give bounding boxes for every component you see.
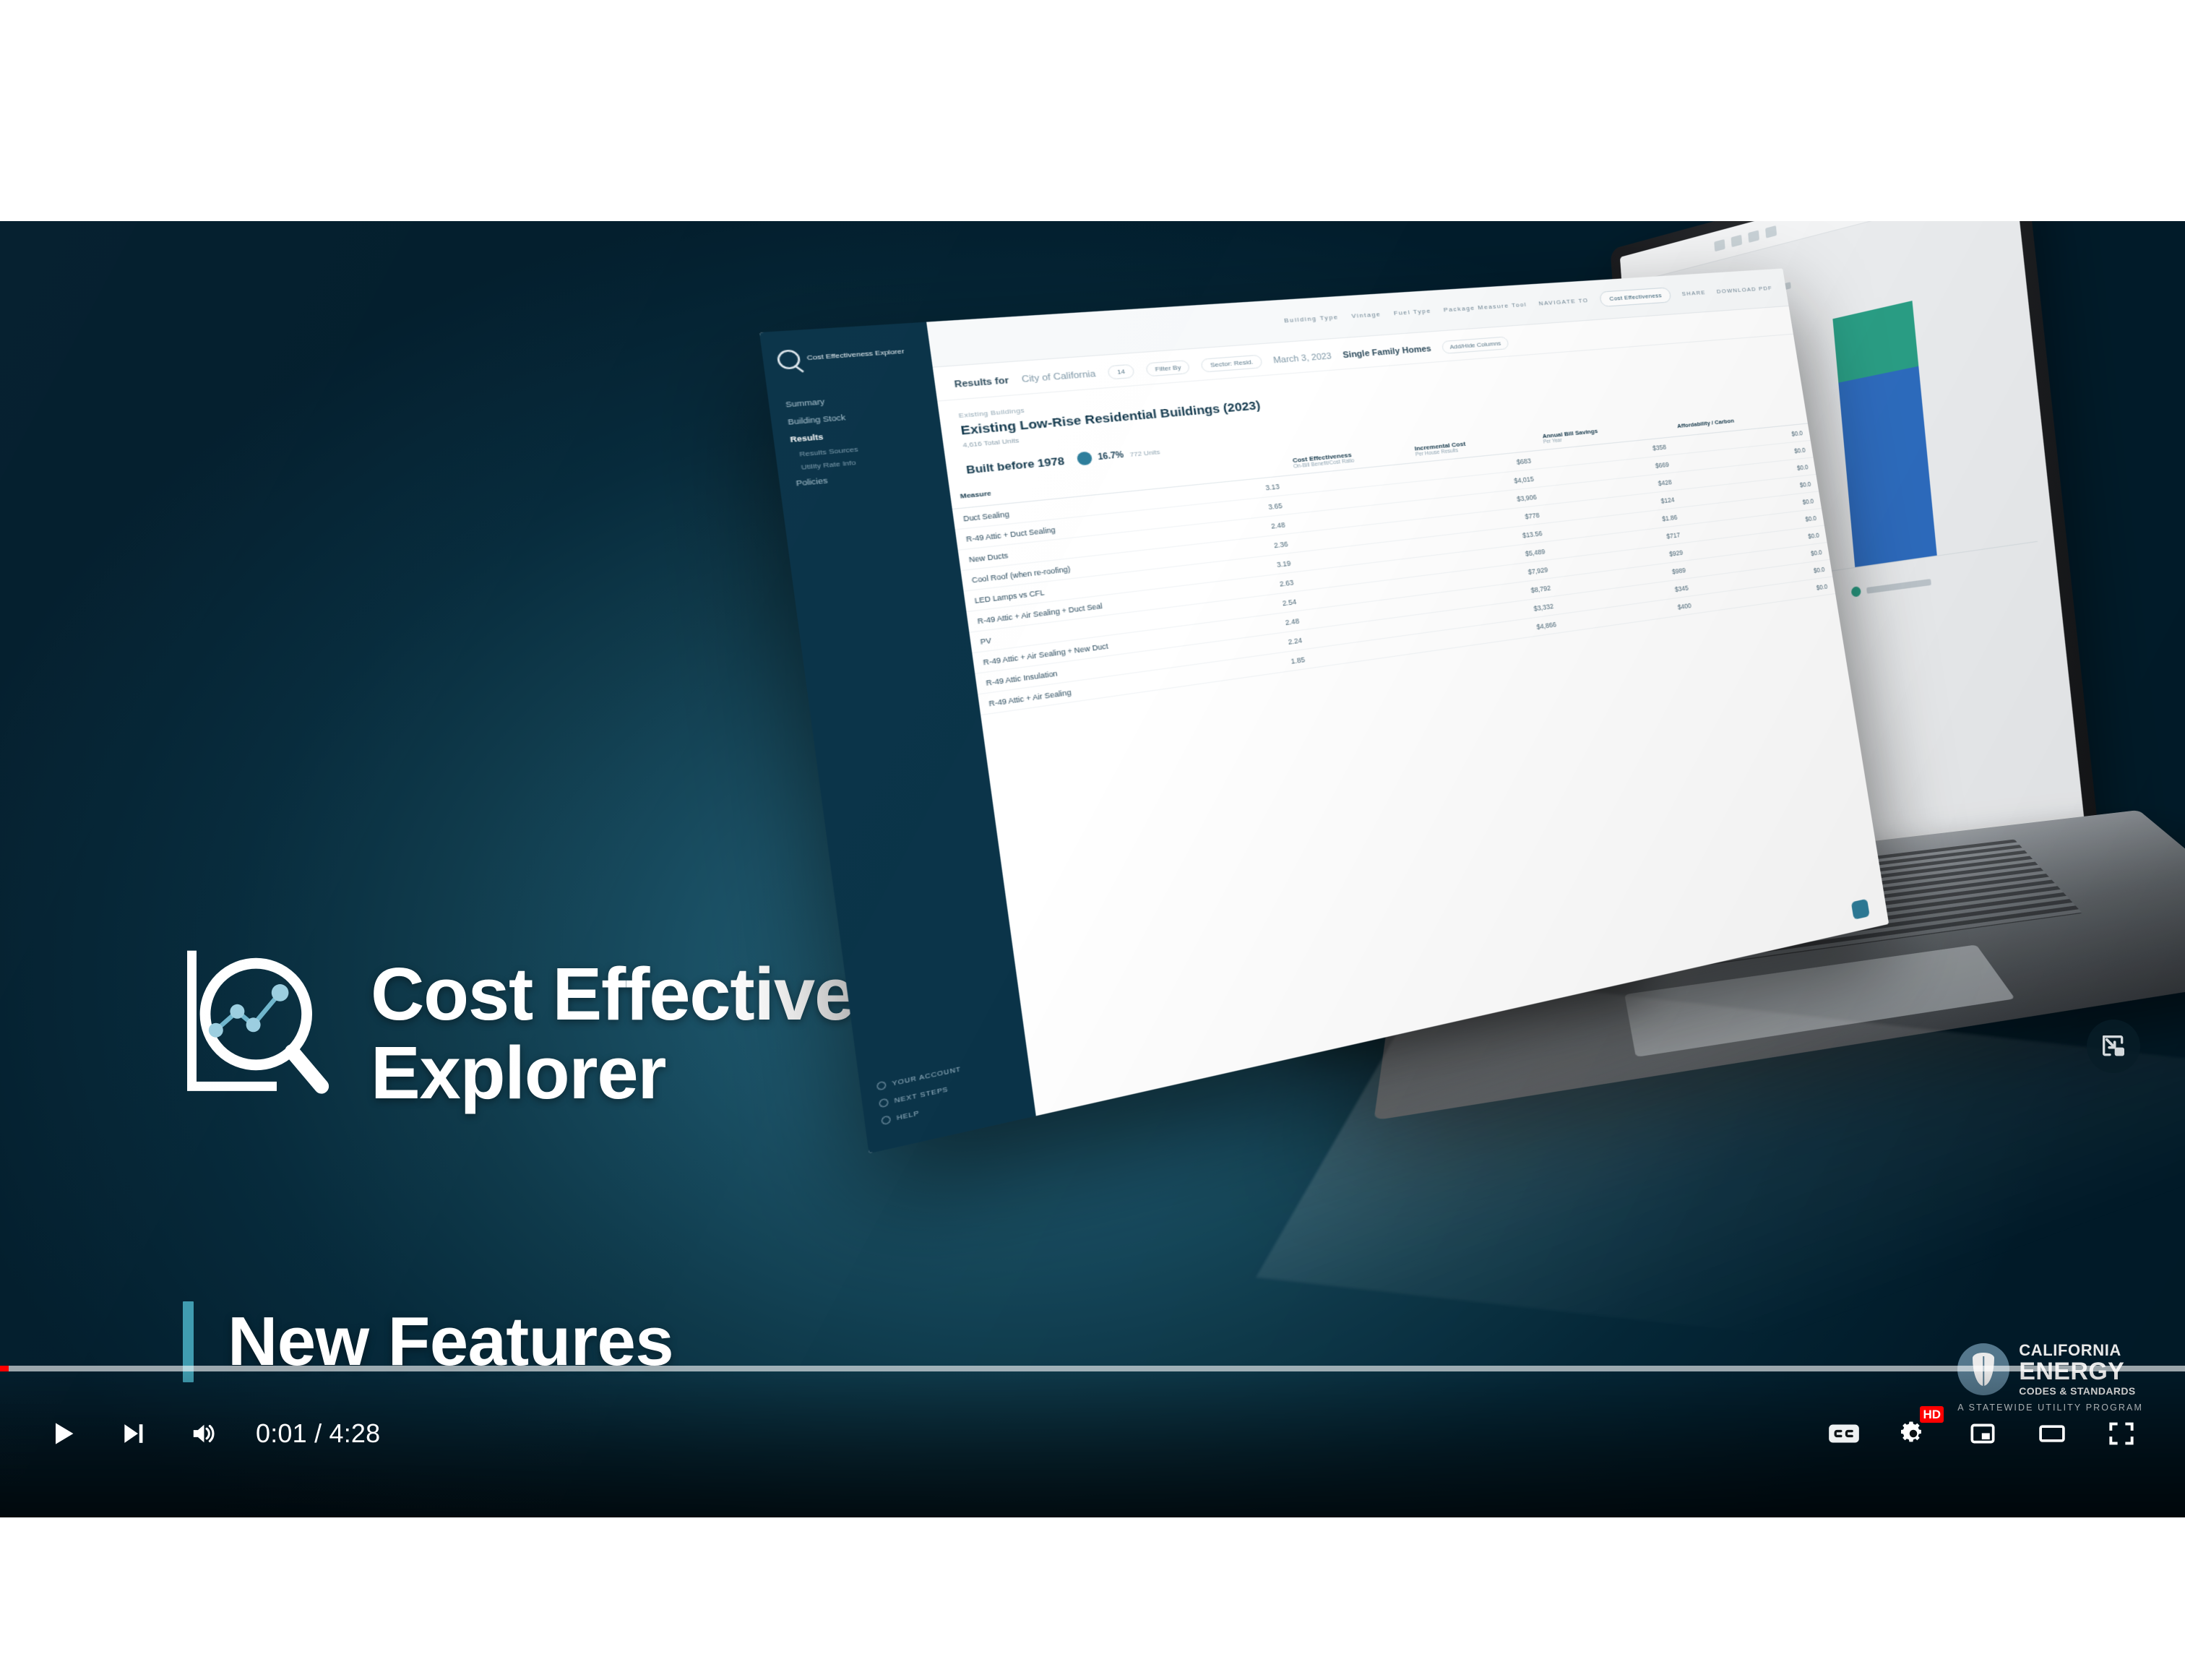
closed-captions-icon — [1826, 1416, 1862, 1452]
volume-button[interactable] — [168, 1399, 237, 1468]
section-heading: Built before 1978 — [965, 454, 1065, 475]
breadcrumb-filter-by[interactable]: Filter By — [1145, 360, 1191, 377]
topbar-tab-vintage[interactable]: Vintage — [1351, 311, 1382, 319]
fullscreen-icon — [2106, 1418, 2137, 1449]
user-icon — [876, 1081, 887, 1091]
picture-in-picture-overlay-button[interactable] — [2087, 1020, 2140, 1073]
settings-gear-button[interactable]: HD — [1879, 1399, 1948, 1468]
section-units: 772 Units — [1129, 448, 1160, 458]
miniplayer-icon — [1967, 1418, 1999, 1449]
hd-quality-badge: HD — [1920, 1406, 1944, 1423]
next-video-button[interactable] — [98, 1399, 168, 1468]
topbar-navigate-to-value[interactable]: Cost Effectiveness — [1599, 287, 1672, 307]
page-bottom-whitespace — [0, 1517, 2185, 1680]
player-controls-zone[interactable]: 0:01 / 4:28 HD — [0, 1366, 2185, 1517]
page-top-whitespace — [0, 0, 2185, 221]
topbar-share-button[interactable]: SHARE — [1681, 289, 1707, 297]
theater-mode-button[interactable] — [2017, 1399, 2087, 1468]
topbar-download-pdf-button[interactable]: DOWNLOAD PDF — [1716, 285, 1772, 295]
player-control-bar[interactable]: 0:01 / 4:28 HD — [0, 1390, 2185, 1477]
arrow-icon — [879, 1098, 889, 1108]
fullscreen-button[interactable] — [2087, 1399, 2156, 1468]
sidebar-help-label: HELP — [896, 1109, 920, 1122]
topbar-tab-package-measure-tool[interactable]: Package Measure Tool — [1443, 301, 1527, 314]
app-sidebar-brand: Cost Effectiveness Explorer — [776, 342, 918, 370]
video-player[interactable]: Cost Effectiveness Explorer New Features — [0, 221, 2185, 1517]
laptop-screen-tool-icons — [1714, 225, 1777, 251]
add-hide-columns-button[interactable]: Add/Hide Columns — [1441, 336, 1509, 354]
app-sidebar-nav[interactable]: Summary Building Stock Results Results S… — [783, 386, 934, 493]
section-percent: 16.7% — [1098, 450, 1124, 462]
play-icon — [48, 1418, 79, 1449]
miniplayer-button[interactable] — [1948, 1399, 2017, 1468]
meter-dial-icon — [1076, 451, 1092, 465]
volume-icon — [186, 1418, 218, 1449]
theater-icon — [2036, 1418, 2068, 1449]
section-meter: 16.7% 772 Units — [1076, 445, 1160, 466]
breadcrumb-sector-chip[interactable]: Sector: Resid. — [1201, 355, 1263, 373]
breadcrumb-climate-zone[interactable]: 14 — [1107, 364, 1134, 380]
breadcrumb-results-for-label: Results for — [954, 375, 1009, 389]
topbar-tab-building-type[interactable]: Building Type — [1284, 314, 1340, 324]
topbar-tab-fuel-type[interactable]: Fuel Type — [1393, 307, 1431, 316]
bar-standard — [1832, 301, 1936, 567]
chat-support-button[interactable] — [1851, 899, 1870, 920]
app-sidebar-bottom-nav[interactable]: YOUR ACCOUNT NEXT STEPS HELP — [874, 1049, 1020, 1130]
pip-arrow-icon — [2099, 1032, 2128, 1061]
magnifier-icon — [776, 349, 801, 370]
app-sidebar-brand-label: Cost Effectiveness Explorer — [806, 348, 905, 363]
device-mockup: Cost Effectiveness Explorer Summary Buil… — [1185, 221, 2185, 1517]
breadcrumb-location: City of California — [1021, 369, 1096, 384]
help-icon — [881, 1115, 891, 1125]
video-frame-slide: Cost Effectiveness Explorer New Features — [0, 221, 2185, 1517]
breadcrumb-building-type: Single Family Homes — [1343, 344, 1432, 360]
topbar-navigate-to-label: NAVIGATE TO — [1538, 297, 1589, 307]
breadcrumb-date: March 3, 2023 — [1272, 351, 1332, 365]
progress-buffered — [0, 1366, 2185, 1371]
right-controls[interactable]: HD — [1809, 1399, 2156, 1468]
play-button[interactable] — [29, 1399, 98, 1468]
subtitles-cc-button[interactable] — [1809, 1399, 1879, 1468]
ce-line-california: CALIFORNIA — [2019, 1343, 2135, 1358]
next-icon — [118, 1418, 148, 1449]
left-controls[interactable]: 0:01 / 4:28 — [29, 1399, 380, 1468]
cost-effectiveness-explorer-logo-icon — [178, 947, 339, 1108]
progress-bar[interactable] — [0, 1366, 2185, 1371]
progress-played — [0, 1366, 9, 1371]
time-display: 0:01 / 4:28 — [256, 1418, 380, 1449]
